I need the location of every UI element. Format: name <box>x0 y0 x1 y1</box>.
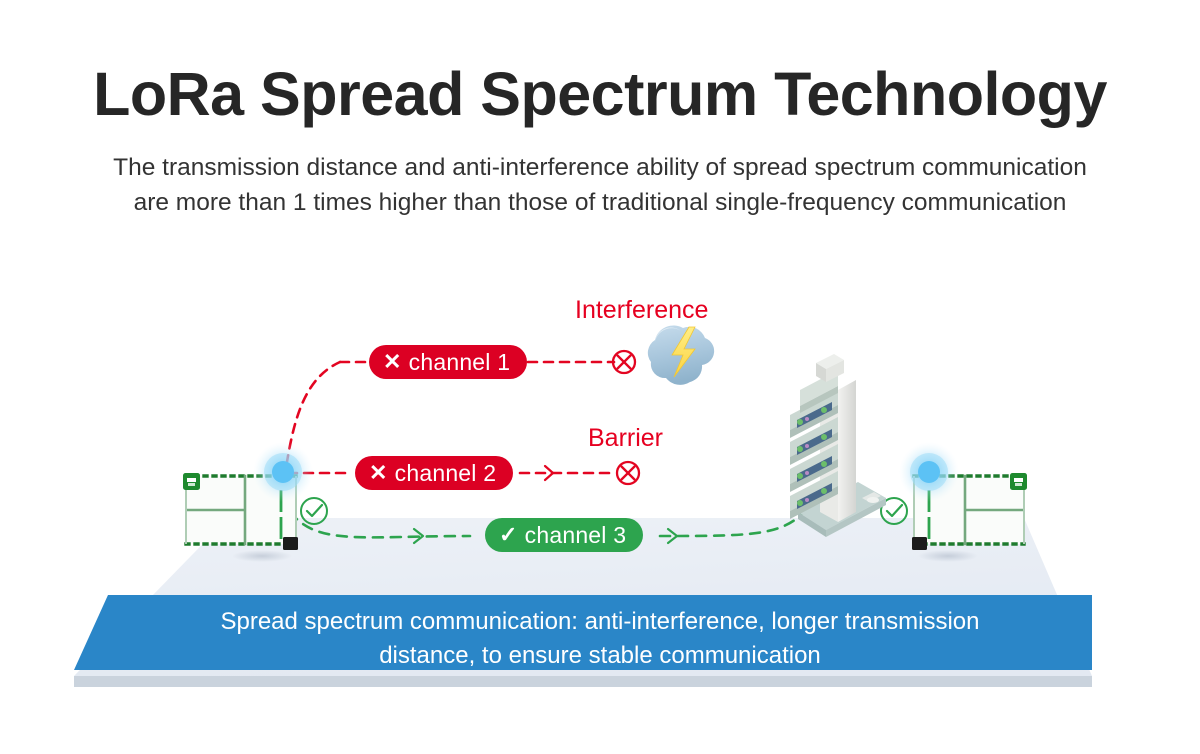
summary-banner <box>74 595 1092 670</box>
badge-channel-1-label: channel 1 <box>409 351 511 374</box>
storm-cloud-icon <box>648 325 714 384</box>
module-connector-right <box>912 537 927 550</box>
label-barrier: Barrier <box>588 426 663 451</box>
cross-icon-1: ✕ <box>383 351 402 373</box>
page-title: LoRa Spread Spectrum Technology <box>0 0 1200 128</box>
label-interference: Interference <box>575 298 708 323</box>
badge-channel-1[interactable]: ✕ channel 1 <box>369 345 527 379</box>
shadow-left <box>232 550 292 562</box>
city-building <box>790 354 886 537</box>
blocked-circle-icon-1 <box>613 351 635 373</box>
header: LoRa Spread Spectrum Technology The tran… <box>0 0 1200 221</box>
badge-channel-3-label: channel 3 <box>525 524 627 547</box>
diagram-scene: Interference Barrier ✕ channel 1 ✕ chann… <box>0 250 1200 690</box>
badge-channel-3[interactable]: ✓ channel 3 <box>485 518 643 552</box>
shadow-right <box>918 550 978 562</box>
subtitle-line-1: The transmission distance and anti-inter… <box>65 150 1135 186</box>
check-icon-3: ✓ <box>499 524 518 546</box>
badge-channel-2-label: channel 2 <box>395 462 497 485</box>
module-connector-left <box>283 537 298 550</box>
signal-glow-right <box>899 442 959 502</box>
cross-icon-2: ✕ <box>369 462 388 484</box>
badge-channel-2[interactable]: ✕ channel 2 <box>355 456 513 490</box>
signal-glow-left <box>253 442 313 502</box>
page-subtitle: The transmission distance and anti-inter… <box>65 128 1135 221</box>
blocked-circle-icon-2 <box>617 462 639 484</box>
subtitle-line-2: are more than 1 times higher than those … <box>65 185 1135 221</box>
